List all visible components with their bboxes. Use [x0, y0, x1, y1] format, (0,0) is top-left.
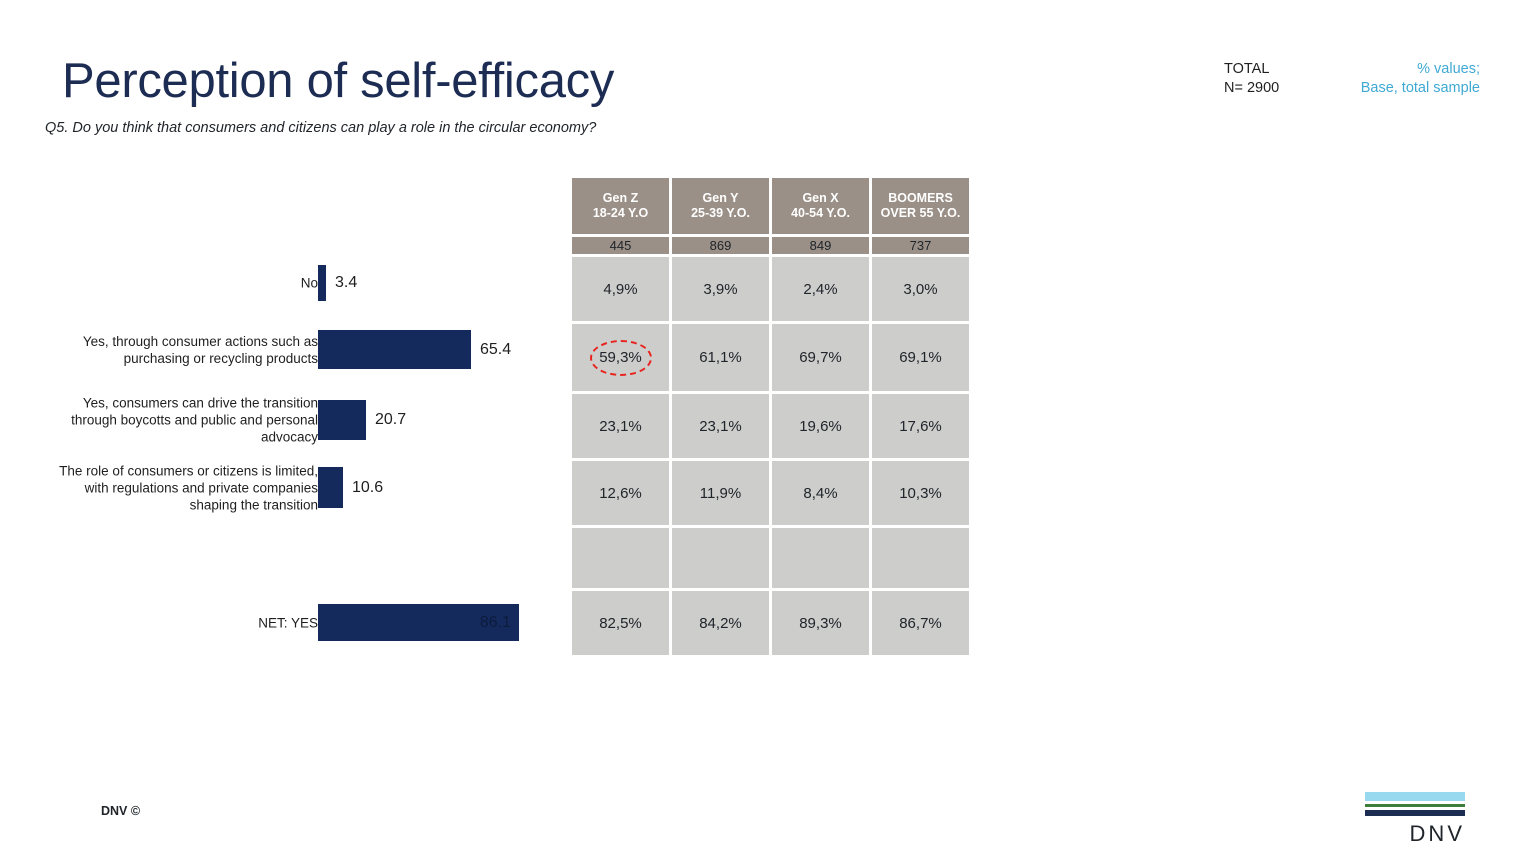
table-cell-value: 8,4% [803, 485, 837, 502]
table-base-row: 445869849737 [572, 237, 969, 254]
table-base-cell: 849 [772, 237, 869, 254]
table-cell-value: 61,1% [699, 349, 742, 366]
table-cell: 3,0% [872, 257, 969, 321]
base-note-line1: % values; [1361, 60, 1480, 79]
table-cell-value: 10,3% [899, 485, 942, 502]
chart-bar-value: 3.4 [335, 274, 357, 292]
chart-category-label: Yes, through consumer actions such as pu… [58, 333, 318, 367]
table-cell: 2,4% [772, 257, 869, 321]
table-cell: 8,4% [772, 461, 869, 525]
footer-copyright: DNV © [101, 804, 140, 818]
table-cell: 69,1% [872, 324, 969, 391]
table-base-cell: 737 [872, 237, 969, 254]
table-cell-value: 3,0% [903, 281, 937, 298]
chart-row: No3.4 [0, 265, 560, 301]
chart-category-label: NET: YES [58, 614, 318, 631]
table-cell: 61,1% [672, 324, 769, 391]
total-count: N= 2900 [1224, 79, 1279, 98]
table-cell: 17,6% [872, 394, 969, 458]
table-cell: 23,1% [572, 394, 669, 458]
table-column-header: BOOMERSOVER 55 Y.O. [872, 178, 969, 234]
table-cell-value: 86,7% [899, 615, 942, 632]
column-header-line1: Gen Y [672, 191, 769, 206]
chart-bar-wrap: 20.7 [318, 400, 366, 440]
chart-bar-value: 65.4 [480, 341, 511, 359]
table-row: 23,1%23,1%19,6%17,6% [572, 394, 969, 458]
table-cell: 12,6% [572, 461, 669, 525]
logo-bar-lightblue [1365, 792, 1465, 801]
chart-bar-wrap: 65.4 [318, 330, 471, 369]
chart-category-label: Yes, consumers can drive the transition … [58, 395, 318, 446]
chart-bar-wrap: 10.6 [318, 467, 343, 508]
table-row [572, 528, 969, 588]
column-header-line2: 40-54 Y.O. [772, 206, 869, 221]
chart-bar-wrap: 86.1 [318, 604, 519, 641]
table-column-header: Gen X40-54 Y.O. [772, 178, 869, 234]
chart-bar: 86.1 [318, 604, 519, 641]
chart-category-label: The role of consumers or citizens is lim… [58, 462, 318, 513]
chart-bar-value: 86.1 [480, 614, 511, 632]
column-header-line1: BOOMERS [872, 191, 969, 206]
table-cell [772, 528, 869, 588]
chart-row: Yes, consumers can drive the transition … [0, 400, 560, 440]
table-base-cell: 445 [572, 237, 669, 254]
table-cell-value: 3,9% [703, 281, 737, 298]
table-cell: 11,9% [672, 461, 769, 525]
chart-bar-value: 20.7 [375, 411, 406, 429]
table-cell-value: 59,3% [599, 349, 642, 366]
table-cell-value: 19,6% [799, 418, 842, 435]
table-cell: 82,5% [572, 591, 669, 655]
table-column-header: Gen Z18-24 Y.O [572, 178, 669, 234]
table-row: 4,9%3,9%2,4%3,0% [572, 257, 969, 321]
table-cell [872, 528, 969, 588]
table-cell: 10,3% [872, 461, 969, 525]
table-base-cell: 869 [672, 237, 769, 254]
table-column-header: Gen Y25-39 Y.O. [672, 178, 769, 234]
table-cell: 3,9% [672, 257, 769, 321]
table-body: 445869849737 4,9%3,9%2,4%3,0%59,3%61,1%6… [572, 237, 969, 655]
bar-chart: No3.4Yes, through consumer actions such … [0, 0, 560, 853]
table-cell: 86,7% [872, 591, 969, 655]
dnv-logo: DNV [1365, 792, 1465, 847]
table-cell-value: 2,4% [803, 281, 837, 298]
table-cell: 59,3% [572, 324, 669, 391]
total-block: TOTAL N= 2900 [1224, 60, 1279, 98]
chart-bar-value: 10.6 [352, 479, 383, 497]
table-cell-value: 23,1% [599, 418, 642, 435]
chart-row: NET: YES86.1 [0, 604, 560, 641]
table-header: Gen Z18-24 Y.OGen Y25-39 Y.O.Gen X40-54 … [572, 178, 969, 234]
table-cell: 69,7% [772, 324, 869, 391]
table-cell-value: 23,1% [699, 418, 742, 435]
logo-bar-navy [1365, 810, 1465, 816]
table-row: 12,6%11,9%8,4%10,3% [572, 461, 969, 525]
table-cell: 23,1% [672, 394, 769, 458]
chart-category-label: No [58, 275, 318, 292]
table-cell: 4,9% [572, 257, 669, 321]
table-cell-value: 82,5% [599, 615, 642, 632]
base-note: % values; Base, total sample [1361, 60, 1480, 98]
base-note-line2: Base, total sample [1361, 79, 1480, 98]
chart-bar: 65.4 [318, 330, 471, 369]
table-header-row: Gen Z18-24 Y.OGen Y25-39 Y.O.Gen X40-54 … [572, 178, 969, 234]
total-label: TOTAL [1224, 60, 1279, 79]
chart-row: The role of consumers or citizens is lim… [0, 467, 560, 508]
table-row: 59,3%61,1%69,7%69,1% [572, 324, 969, 391]
table-cell: 84,2% [672, 591, 769, 655]
table-cell: 19,6% [772, 394, 869, 458]
table-cell-value: 4,9% [603, 281, 637, 298]
table-cell: 89,3% [772, 591, 869, 655]
chart-bar-wrap: 3.4 [318, 265, 326, 301]
table-cell-value: 89,3% [799, 615, 842, 632]
table-cell-value: 69,1% [899, 349, 942, 366]
logo-wordmark: DNV [1365, 821, 1465, 847]
table-cell-value: 84,2% [699, 615, 742, 632]
chart-bar: 20.7 [318, 400, 366, 440]
table-cell [672, 528, 769, 588]
table-cell-value: 17,6% [899, 418, 942, 435]
column-header-line2: 18-24 Y.O [572, 206, 669, 221]
column-header-line1: Gen Z [572, 191, 669, 206]
generation-crosstab: Gen Z18-24 Y.OGen Y25-39 Y.O.Gen X40-54 … [569, 175, 972, 658]
table-cell-value: 69,7% [799, 349, 842, 366]
column-header-line1: Gen X [772, 191, 869, 206]
table-cell-value: 12,6% [599, 485, 642, 502]
column-header-line2: 25-39 Y.O. [672, 206, 769, 221]
table-row: 82,5%84,2%89,3%86,7% [572, 591, 969, 655]
table-cell [572, 528, 669, 588]
column-header-line2: OVER 55 Y.O. [872, 206, 969, 221]
chart-bar: 3.4 [318, 265, 326, 301]
chart-row: Yes, through consumer actions such as pu… [0, 330, 560, 369]
chart-bar: 10.6 [318, 467, 343, 508]
table-cell-value: 11,9% [700, 485, 741, 502]
